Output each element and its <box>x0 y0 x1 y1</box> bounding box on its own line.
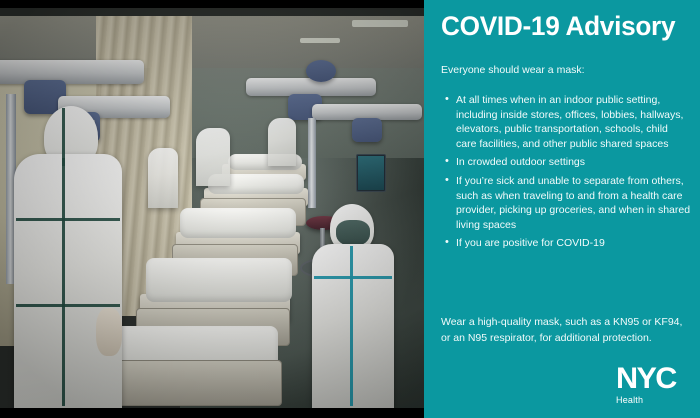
photo-scene <box>0 8 424 408</box>
advisory-intro: Everyone should wear a mask: <box>441 63 691 78</box>
list-item: At all times when in an indoor public se… <box>441 93 691 151</box>
nyc-logo-mark: NYC <box>616 365 691 393</box>
list-item: If you’re sick and unable to separate fr… <box>441 174 691 232</box>
photo-vignette <box>0 8 424 408</box>
hospital-ward-photo <box>0 0 424 418</box>
advisory-panel: COVID-19 Advisory Everyone should wear a… <box>424 0 700 418</box>
advisory-outro: Wear a high-quality mask, such as a KN95… <box>441 315 693 346</box>
page-title: COVID-19 Advisory <box>441 10 684 42</box>
covid-advisory-poster: COVID-19 Advisory Everyone should wear a… <box>0 0 700 418</box>
advisory-bullet-list: At all times when in an indoor public se… <box>441 93 691 255</box>
letterbox-bottom <box>0 408 424 418</box>
letterbox-top <box>0 0 424 8</box>
nyc-health-logo: NYC Health <box>616 365 690 406</box>
nyc-logo-wordmark: Health <box>616 395 690 406</box>
list-item: In crowded outdoor settings <box>441 155 691 170</box>
list-item: If you are positive for COVID-19 <box>441 236 691 251</box>
